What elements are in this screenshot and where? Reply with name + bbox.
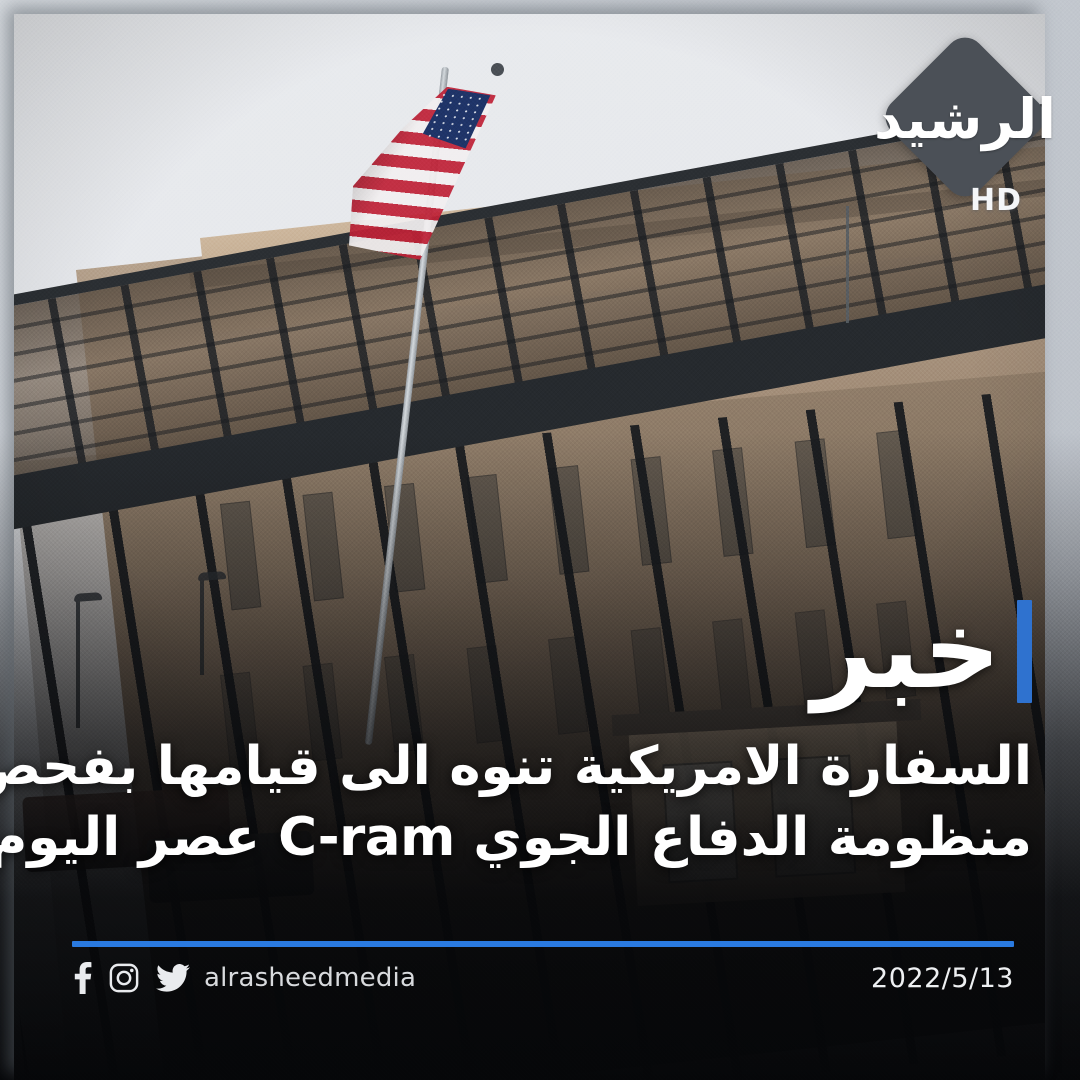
headline: السفارة الامريكية تنوه الى قيامها بفحص م…: [60, 735, 1032, 870]
channel-logo: الرشيد HD: [898, 55, 1028, 230]
news-card: الرشيد HD خبر السفارة الامريكية تنوه الى…: [0, 0, 1080, 1080]
footer-divider-rule: [72, 941, 1014, 947]
logo-arabic-script: الرشيد: [898, 69, 1032, 169]
kicker-row: خبر: [812, 600, 1032, 703]
background-photo: [14, 14, 1045, 1080]
kicker-accent-bar: [1017, 600, 1032, 703]
kicker-label: خبر: [812, 600, 1001, 703]
roof-antenna-mast: [846, 206, 849, 323]
facebook-icon[interactable]: [72, 962, 92, 994]
hd-badge: HD: [970, 183, 1022, 218]
publish-date: 2022/5/13: [871, 963, 1014, 994]
twitter-icon[interactable]: [156, 964, 190, 992]
headline-line-1: السفارة الامريكية تنوه الى قيامها بفحص: [60, 735, 1032, 800]
instagram-icon[interactable]: [109, 963, 139, 993]
social-handle: alrasheedmedia: [204, 963, 416, 993]
social-icons: [72, 962, 190, 994]
headline-line-2: منظومة الدفاع الجوي C-ram عصر اليوم: [60, 806, 1032, 871]
streetlight-2: [200, 579, 204, 675]
footer: alrasheedmedia 2022/5/13: [72, 955, 1014, 1001]
streetlight-1: [76, 600, 80, 728]
